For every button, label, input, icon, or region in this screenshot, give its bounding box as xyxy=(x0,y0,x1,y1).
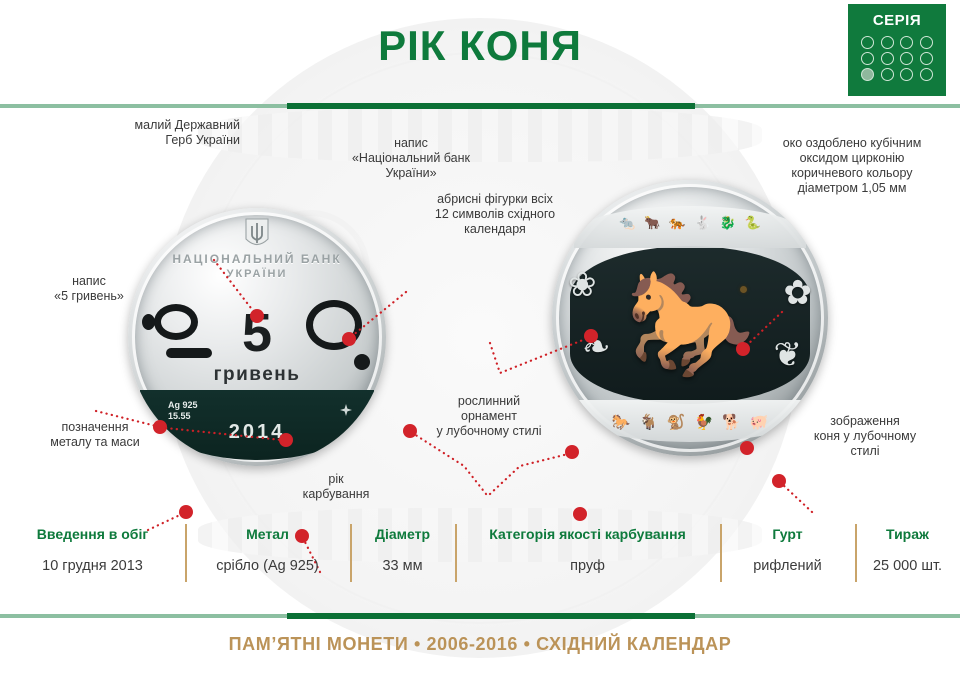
series-dot-3 xyxy=(900,36,913,49)
series-dot-10 xyxy=(881,68,894,81)
reverse-floral-ornament: ❧ xyxy=(582,330,611,364)
obverse-ornament-left-bud xyxy=(142,314,155,330)
coin-diagram: НАЦІОНАЛЬНИЙ БАНК УКРАЇНИ 5 гривень Ag 9… xyxy=(0,104,960,514)
spec-value: срібло (Ag 925) xyxy=(189,556,346,576)
callout-denom-text: напис «5 гривень» xyxy=(30,274,148,304)
zodiac-symbol-1: 🐀 xyxy=(619,216,635,229)
spec-cell-mintage: Тираж 25 000 шт. xyxy=(855,518,960,602)
zodiac-symbol-4: 🐇 xyxy=(695,216,711,229)
obverse-ornament-right xyxy=(306,300,362,350)
obverse-ornament-left xyxy=(154,304,198,340)
specs-table: Введення в обіг 10 грудня 2013 Метал срі… xyxy=(0,518,960,602)
spec-value: пруф xyxy=(459,556,716,576)
coin-reverse[interactable]: 🐀🐂🐅🐇🐉🐍 ❀ ❧ ✿ ❦ 🐎 🐎🐐🐒🐓🐕🐖 xyxy=(552,180,828,456)
callout-crest: малий Державний Герб України xyxy=(60,118,240,148)
zodiac-symbol-4: 🐓 xyxy=(695,415,714,430)
eye-zirconia-gem xyxy=(740,286,747,293)
header-divider-accent xyxy=(287,103,695,109)
zodiac-symbol-3: 🐒 xyxy=(667,415,686,430)
spec-cell-diameter: Діаметр 33 мм xyxy=(350,518,455,602)
callout-horse-image: зображення коня у лубочному стилі xyxy=(790,414,940,459)
spec-cell-quality: Категорія якості карбування пруф xyxy=(455,518,720,602)
spec-head: Гурт xyxy=(724,524,851,544)
obverse-denomination: 5 xyxy=(242,308,272,358)
zodiac-symbol-2: 🐂 xyxy=(644,216,660,229)
page-header: РІК КОНЯ xyxy=(0,0,960,96)
reverse-floral-ornament: ❀ xyxy=(568,268,597,302)
spec-head: Діаметр xyxy=(354,524,451,544)
zodiac-silhouettes-top: 🐀🐂🐅🐇🐉🐍 xyxy=(552,216,828,229)
obverse-ornament-left-stem xyxy=(166,348,212,358)
zodiac-symbol-3: 🐅 xyxy=(669,216,685,229)
trident-crest-icon xyxy=(244,217,270,251)
obverse-year: 2014 xyxy=(229,421,286,444)
zodiac-symbol-6: 🐖 xyxy=(750,415,769,430)
zodiac-symbol-1: 🐎 xyxy=(611,415,630,430)
series-dot-4 xyxy=(920,36,933,49)
page-title: РІК КОНЯ xyxy=(0,22,960,70)
spec-head: Метал xyxy=(189,524,346,544)
spec-value: 33 мм xyxy=(354,556,451,576)
series-badge: СЕРІЯ xyxy=(848,4,946,96)
marker-dot-metal-mass xyxy=(179,505,193,519)
mint-mark-icon xyxy=(340,404,352,416)
spec-cell-edge: Гурт рифлений xyxy=(720,518,855,602)
header-divider-rule xyxy=(0,104,960,108)
series-dot-12 xyxy=(920,68,933,81)
series-dot-2 xyxy=(881,36,894,49)
zodiac-symbol-6: 🐍 xyxy=(745,216,761,229)
series-dot-9 xyxy=(861,68,874,81)
spec-head: Категорія якості карбування xyxy=(459,524,716,544)
callout-mint-year: рік карбування xyxy=(288,472,384,502)
spec-value: рифлений xyxy=(724,556,851,576)
series-dot-7 xyxy=(900,52,913,65)
callout-floral: рослинний орнамент у лубочному стилі xyxy=(414,394,564,439)
zodiac-symbol-5: 🐉 xyxy=(720,216,736,229)
footer-divider-rule xyxy=(0,614,960,618)
coin-obverse[interactable]: НАЦІОНАЛЬНИЙ БАНК УКРАЇНИ 5 гривень Ag 9… xyxy=(128,208,386,466)
spec-head: Введення в обіг xyxy=(4,524,181,544)
marker-dot-horse-image xyxy=(772,474,786,488)
spec-value: 25 000 шт. xyxy=(859,556,956,576)
zodiac-symbol-5: 🐕 xyxy=(722,415,741,430)
zodiac-silhouettes-bottom: 🐎🐐🐒🐓🐕🐖 xyxy=(552,415,828,430)
obverse-bank-line1: НАЦІОНАЛЬНИЙ БАНК xyxy=(128,252,386,266)
obverse-bank-line2: УКРАЇНИ xyxy=(128,268,386,280)
zodiac-symbol-2: 🐐 xyxy=(639,415,658,430)
spec-value: 10 грудня 2013 xyxy=(4,556,181,576)
callout-metal-mass: позначення металу та маси xyxy=(30,420,160,450)
reverse-floral-ornament: ✿ xyxy=(784,276,813,310)
obverse-metal-mark: Ag 925 15.55 xyxy=(168,400,198,422)
callout-eye-gem: око оздоблено кубічним оксидом цирконію … xyxy=(752,136,952,196)
footer-divider-accent xyxy=(287,613,695,619)
series-dot-5 xyxy=(861,52,874,65)
callout-zodiac-12: абрисні фігурки всіх 12 символів східног… xyxy=(400,192,590,237)
series-dot-6 xyxy=(881,52,894,65)
spec-head: Тираж xyxy=(859,524,956,544)
series-progress-dots xyxy=(859,36,935,81)
spec-cell-metal: Метал срібло (Ag 925) xyxy=(185,518,350,602)
marker-dot-floral-reverse xyxy=(565,445,579,459)
footer-caption: ПАМ’ЯТНІ МОНЕТИ • 2006-2016 • СХІДНИЙ КА… xyxy=(0,634,960,655)
obverse-ornament-right-bud xyxy=(354,354,370,370)
obverse-denomination-word: гривень xyxy=(214,364,301,386)
reverse-floral-ornament: ❦ xyxy=(774,338,803,372)
callout-bank-name: напис «Національний банк України» xyxy=(316,136,506,181)
spec-cell-issue-date: Введення в обіг 10 грудня 2013 xyxy=(0,518,185,602)
horse-figure-icon: 🐎 xyxy=(625,272,755,376)
series-dot-11 xyxy=(900,68,913,81)
series-dot-1 xyxy=(861,36,874,49)
series-dot-8 xyxy=(920,52,933,65)
series-badge-label: СЕРІЯ xyxy=(848,12,946,30)
